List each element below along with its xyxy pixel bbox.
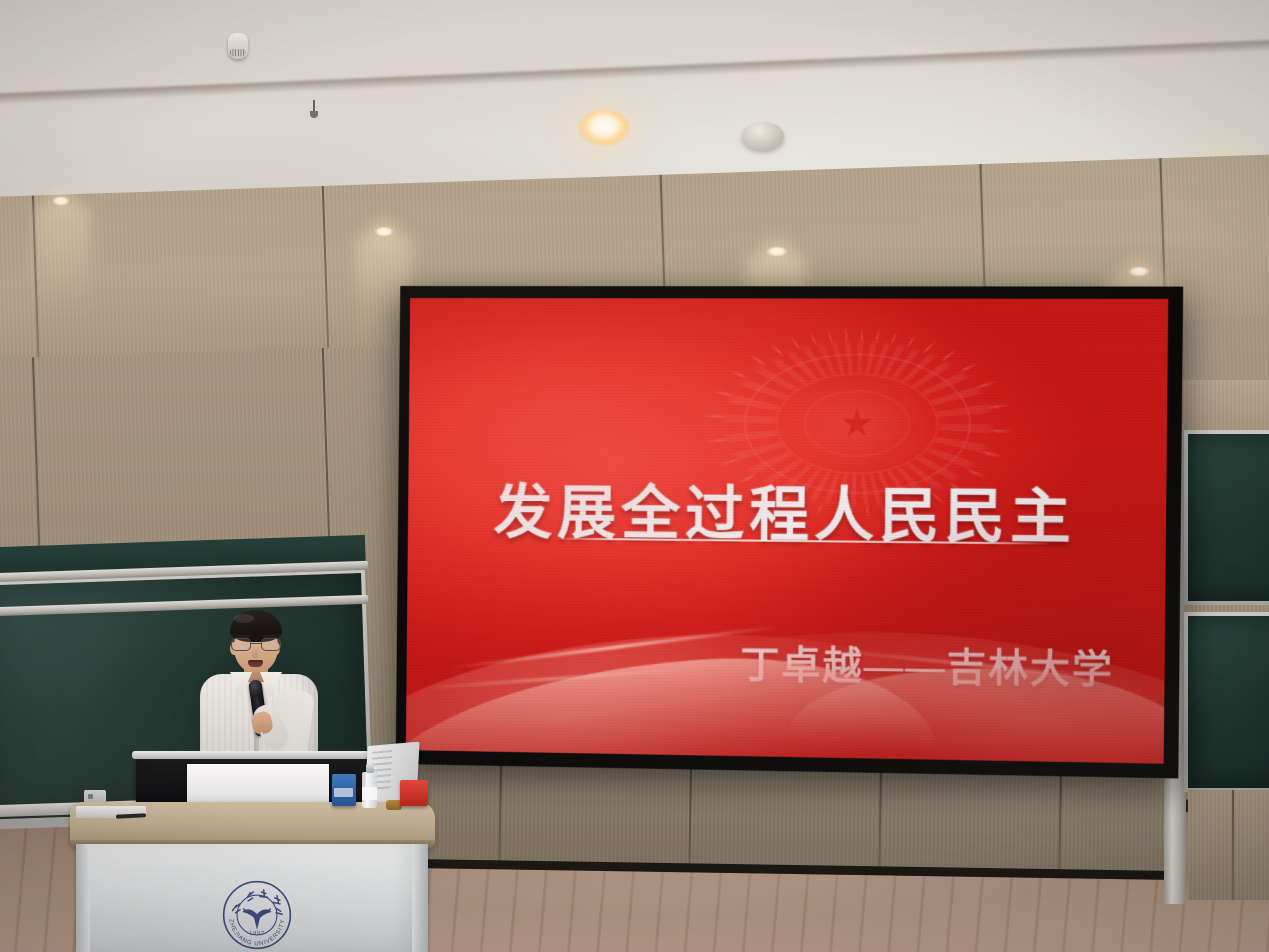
zhejiang-university-logo-icon: 1897 ZHEJIANG UNIVERSITY [220, 878, 294, 952]
monitor-top-rim [132, 751, 372, 759]
presenter-mouth [248, 660, 263, 667]
lectern-edge-right [412, 844, 428, 952]
eyeglass-bridge [251, 643, 261, 644]
lectern: 1897 ZHEJIANG UNIVERSITY [70, 756, 435, 952]
chalkboard-surface [1188, 616, 1269, 788]
lecture-hall-photo: 发展全过程人民民主 丁卓越——吉林大学 [0, 0, 1269, 952]
downlight-icon [52, 196, 70, 206]
led-pixel-scanlines [406, 298, 1168, 764]
eyeglass-lens [231, 638, 251, 651]
wall-wood-grain [1188, 790, 1269, 900]
microphone-grille [248, 679, 263, 698]
wall-light-cone [34, 206, 90, 326]
led-video-wall[interactable]: 发展全过程人民民主 丁卓越——吉林大学 [396, 286, 1183, 778]
water-bottle [362, 764, 377, 808]
wall-panel-right-bottom [1188, 790, 1269, 900]
chalkboard-right-upper [1184, 430, 1269, 605]
paper-stack [187, 764, 329, 806]
cabinet-below-screen [410, 764, 1172, 880]
lectern-front-panel: 1897 ZHEJIANG UNIVERSITY [76, 844, 428, 952]
wall-seam [1232, 790, 1234, 900]
bottle-label [362, 787, 377, 800]
presentation-slide[interactable]: 发展全过程人民民主 丁卓越——吉林大学 [406, 298, 1168, 764]
wall-seam [322, 186, 330, 366]
bottle-cap [366, 764, 374, 773]
eyeglass-lens [261, 638, 281, 651]
presenter-nose [252, 648, 258, 658]
lectern-edge-left [76, 844, 90, 952]
smoke-detector-icon [228, 33, 248, 59]
sprinkler-head-icon [310, 100, 318, 120]
ceiling-speaker-icon [742, 122, 784, 150]
blue-box [332, 774, 356, 806]
chalkboard-surface [1188, 434, 1269, 601]
sprinkler-deflector [310, 111, 318, 118]
svg-text:1897: 1897 [249, 930, 265, 937]
presenter [186, 608, 336, 768]
chalkboard-right-lower [1184, 612, 1269, 792]
red-box [400, 780, 428, 806]
downlight-icon [578, 110, 630, 146]
